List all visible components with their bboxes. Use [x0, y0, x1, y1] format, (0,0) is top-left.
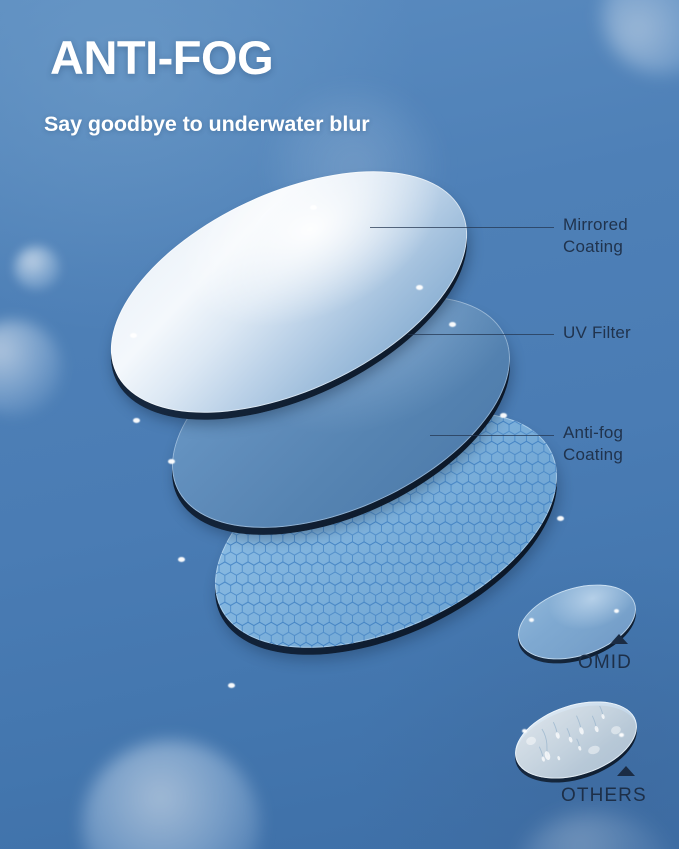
leader-line-uv-filter: [408, 334, 554, 335]
omid-label: OMID: [578, 652, 632, 674]
callout-label-antifog-coating: Anti-fog Coating: [563, 422, 623, 466]
lens-rim-highlight: [168, 459, 175, 464]
lens-rim-highlight: [133, 418, 140, 423]
callout-label-mirrored-coating: Mirrored Coating: [563, 214, 628, 258]
lens-rim-highlight: [614, 609, 619, 613]
omid-pointer-icon: [610, 634, 628, 644]
leader-line-mirrored-coating: [370, 227, 554, 228]
lens-rim-highlight: [178, 557, 185, 562]
callout-label-uv-filter: UV Filter: [563, 322, 631, 344]
lens-rim-highlight: [557, 516, 564, 521]
lens-rim-highlight: [529, 618, 534, 622]
lens-rim-highlight: [522, 729, 527, 733]
others-label: OTHERS: [561, 785, 647, 807]
lens-rim-highlight: [130, 333, 137, 338]
lens-rim-highlight: [228, 683, 235, 688]
lens-rim-highlight: [500, 413, 507, 418]
lens-rim-highlight: [310, 205, 317, 210]
others-pointer-icon: [617, 766, 635, 776]
anti-fog-infographic: ANTI-FOG Say goodbye to underwater blur: [0, 0, 679, 849]
lens-rim-highlight: [416, 285, 423, 290]
leader-line-antifog-coating: [430, 435, 554, 436]
lens-rim-highlight: [449, 322, 456, 327]
lens-rim-highlight: [619, 733, 624, 737]
